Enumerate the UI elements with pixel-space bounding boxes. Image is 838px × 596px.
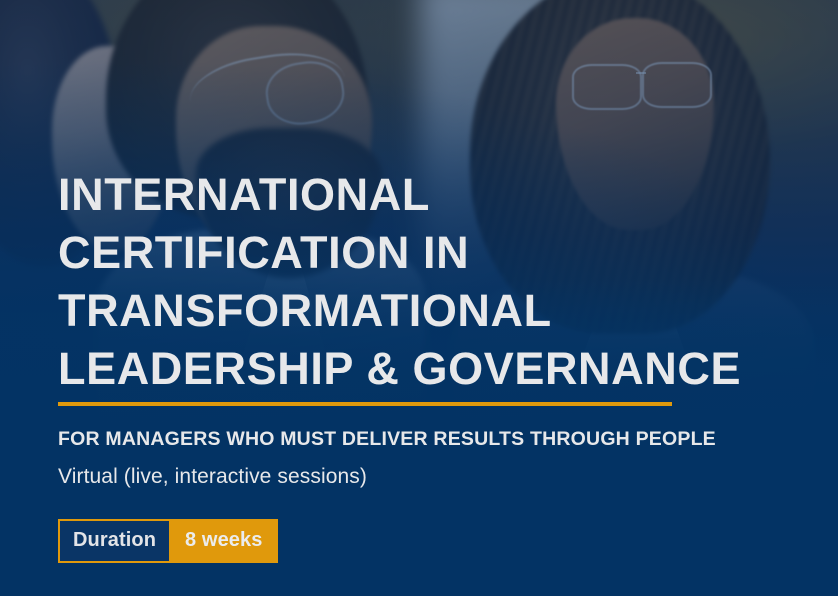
page-title: INTERNATIONAL CERTIFICATION IN TRANSFORM…	[58, 166, 798, 398]
hero-kicker: FOR MANAGERS WHO MUST DELIVER RESULTS TH…	[58, 428, 798, 451]
headline-line-1: INTERNATIONAL	[58, 166, 798, 224]
accent-underline	[58, 402, 672, 406]
headline-line-4: LEADERSHIP & GOVERNANCE	[58, 340, 798, 398]
hero-content: INTERNATIONAL CERTIFICATION IN TRANSFORM…	[58, 166, 798, 563]
duration-badge-label: Duration	[60, 521, 171, 561]
headline-line-3: TRANSFORMATIONAL	[58, 282, 798, 340]
course-hero-banner: INTERNATIONAL CERTIFICATION IN TRANSFORM…	[0, 0, 838, 596]
delivery-mode-text: Virtual (live, interactive sessions)	[58, 465, 798, 489]
headline-line-2: CERTIFICATION IN	[58, 224, 798, 282]
duration-badge-value: 8 weeks	[171, 521, 276, 561]
duration-badge: Duration 8 weeks	[58, 519, 278, 563]
